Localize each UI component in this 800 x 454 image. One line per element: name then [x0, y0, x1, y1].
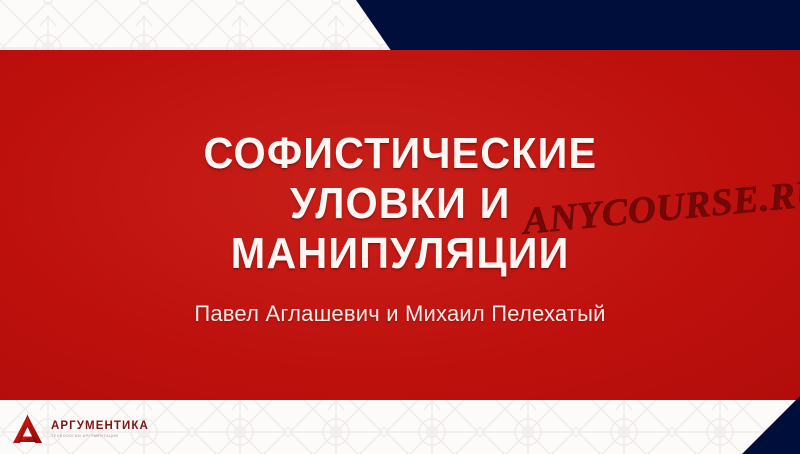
title-block: СОФИСТИЧЕСКИЕ УЛОВКИ И МАНИПУЛЯЦИИ Павел…	[0, 50, 800, 400]
presentation-slide: СОФИСТИЧЕСКИЕ УЛОВКИ И МАНИПУЛЯЦИИ Павел…	[0, 0, 800, 454]
brand-name: АРГУМЕНТИКА	[51, 420, 149, 432]
title-line-2: УЛОВКИ И	[290, 179, 510, 229]
navy-top-banner	[0, 0, 800, 52]
brand-logo: АРГУМЕНТИКА технологии аргументации	[11, 413, 149, 446]
triangle-a-logo-icon	[11, 413, 44, 446]
brand-logo-text: АРГУМЕНТИКА технологии аргументации	[51, 420, 149, 439]
authors-subtitle: Павел Аглашевич и Михаил Пелехатый	[194, 301, 605, 327]
title-lines: СОФИСТИЧЕСКИЕ УЛОВКИ И МАНИПУЛЯЦИИ	[191, 129, 610, 279]
title-line-1: СОФИСТИЧЕСКИЕ	[203, 129, 597, 179]
brand-tagline: технологии аргументации	[51, 434, 149, 439]
title-line-3: МАНИПУЛЯЦИИ	[231, 229, 570, 279]
navy-bottom-corner	[590, 396, 800, 454]
